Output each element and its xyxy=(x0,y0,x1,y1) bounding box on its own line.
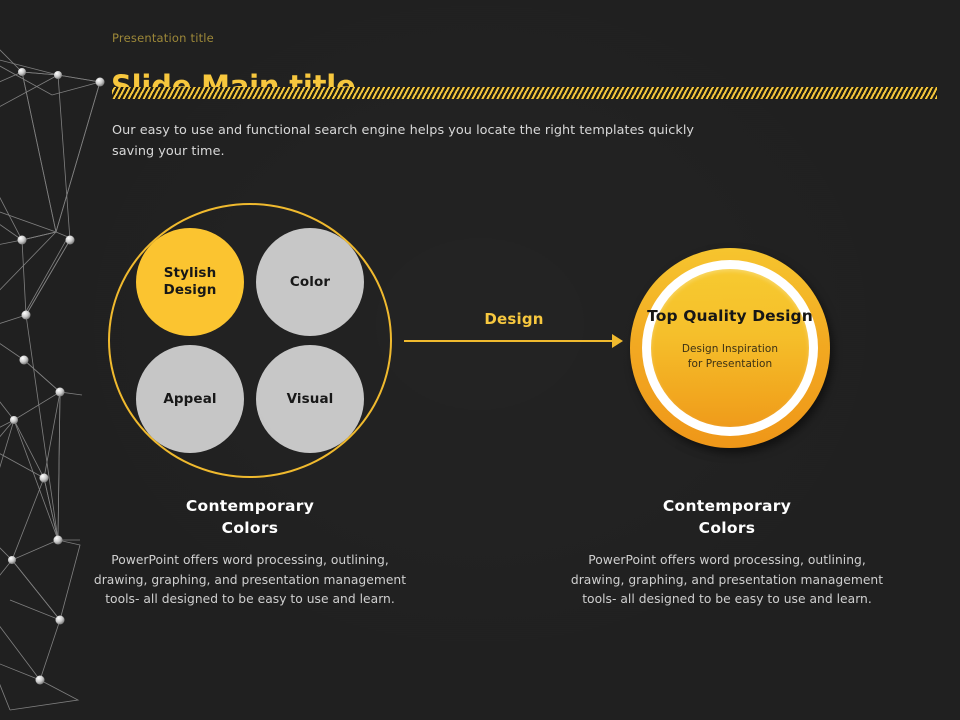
bubble-visual[interactable]: Visual xyxy=(256,345,364,453)
caption-heading-line-2: Colors xyxy=(562,517,892,539)
bubble-label: Color xyxy=(290,274,330,291)
bubble-color[interactable]: Color xyxy=(256,228,364,336)
caption-heading-line-1: Contemporary xyxy=(562,495,892,517)
bubble-label: Stylish Design xyxy=(136,265,244,299)
bubble-label: Visual xyxy=(287,391,334,408)
caption-left: Contemporary Colors PowerPoint offers wo… xyxy=(85,495,415,610)
caption-body: PowerPoint offers word processing, outli… xyxy=(85,551,415,610)
bubble-stylish-design[interactable]: Stylish Design xyxy=(136,228,244,336)
badge-subtitle-line-2: for Presentation xyxy=(682,357,778,372)
badge-subtitle: Design Inspiration for Presentation xyxy=(682,342,778,372)
connector-label: Design xyxy=(404,310,624,328)
bubble-appeal[interactable]: Appeal xyxy=(136,345,244,453)
slide-canvas: Presentation title Slide Main title Our … xyxy=(0,0,960,720)
caption-heading: Contemporary Colors xyxy=(85,495,415,539)
connector-arrow-line xyxy=(404,340,617,342)
network-decoration-graphic xyxy=(0,0,115,720)
connector-arrow-head-icon xyxy=(612,334,623,348)
presentation-title-eyebrow: Presentation title xyxy=(112,31,214,45)
caption-heading-line-2: Colors xyxy=(85,517,415,539)
badge-subtitle-line-1: Design Inspiration xyxy=(682,342,778,357)
top-quality-badge[interactable]: Top Quality Design Design Inspiration fo… xyxy=(630,248,830,448)
badge-title: Top Quality Design xyxy=(647,307,813,325)
caption-heading: Contemporary Colors xyxy=(562,495,892,539)
caption-heading-line-1: Contemporary xyxy=(85,495,415,517)
caption-right: Contemporary Colors PowerPoint offers wo… xyxy=(562,495,892,610)
striped-divider xyxy=(112,87,937,99)
bubble-label: Appeal xyxy=(163,391,216,408)
slide-intro-text: Our easy to use and functional search en… xyxy=(112,120,712,162)
caption-body: PowerPoint offers word processing, outli… xyxy=(562,551,892,610)
badge-inner-disc: Top Quality Design Design Inspiration fo… xyxy=(651,269,809,427)
